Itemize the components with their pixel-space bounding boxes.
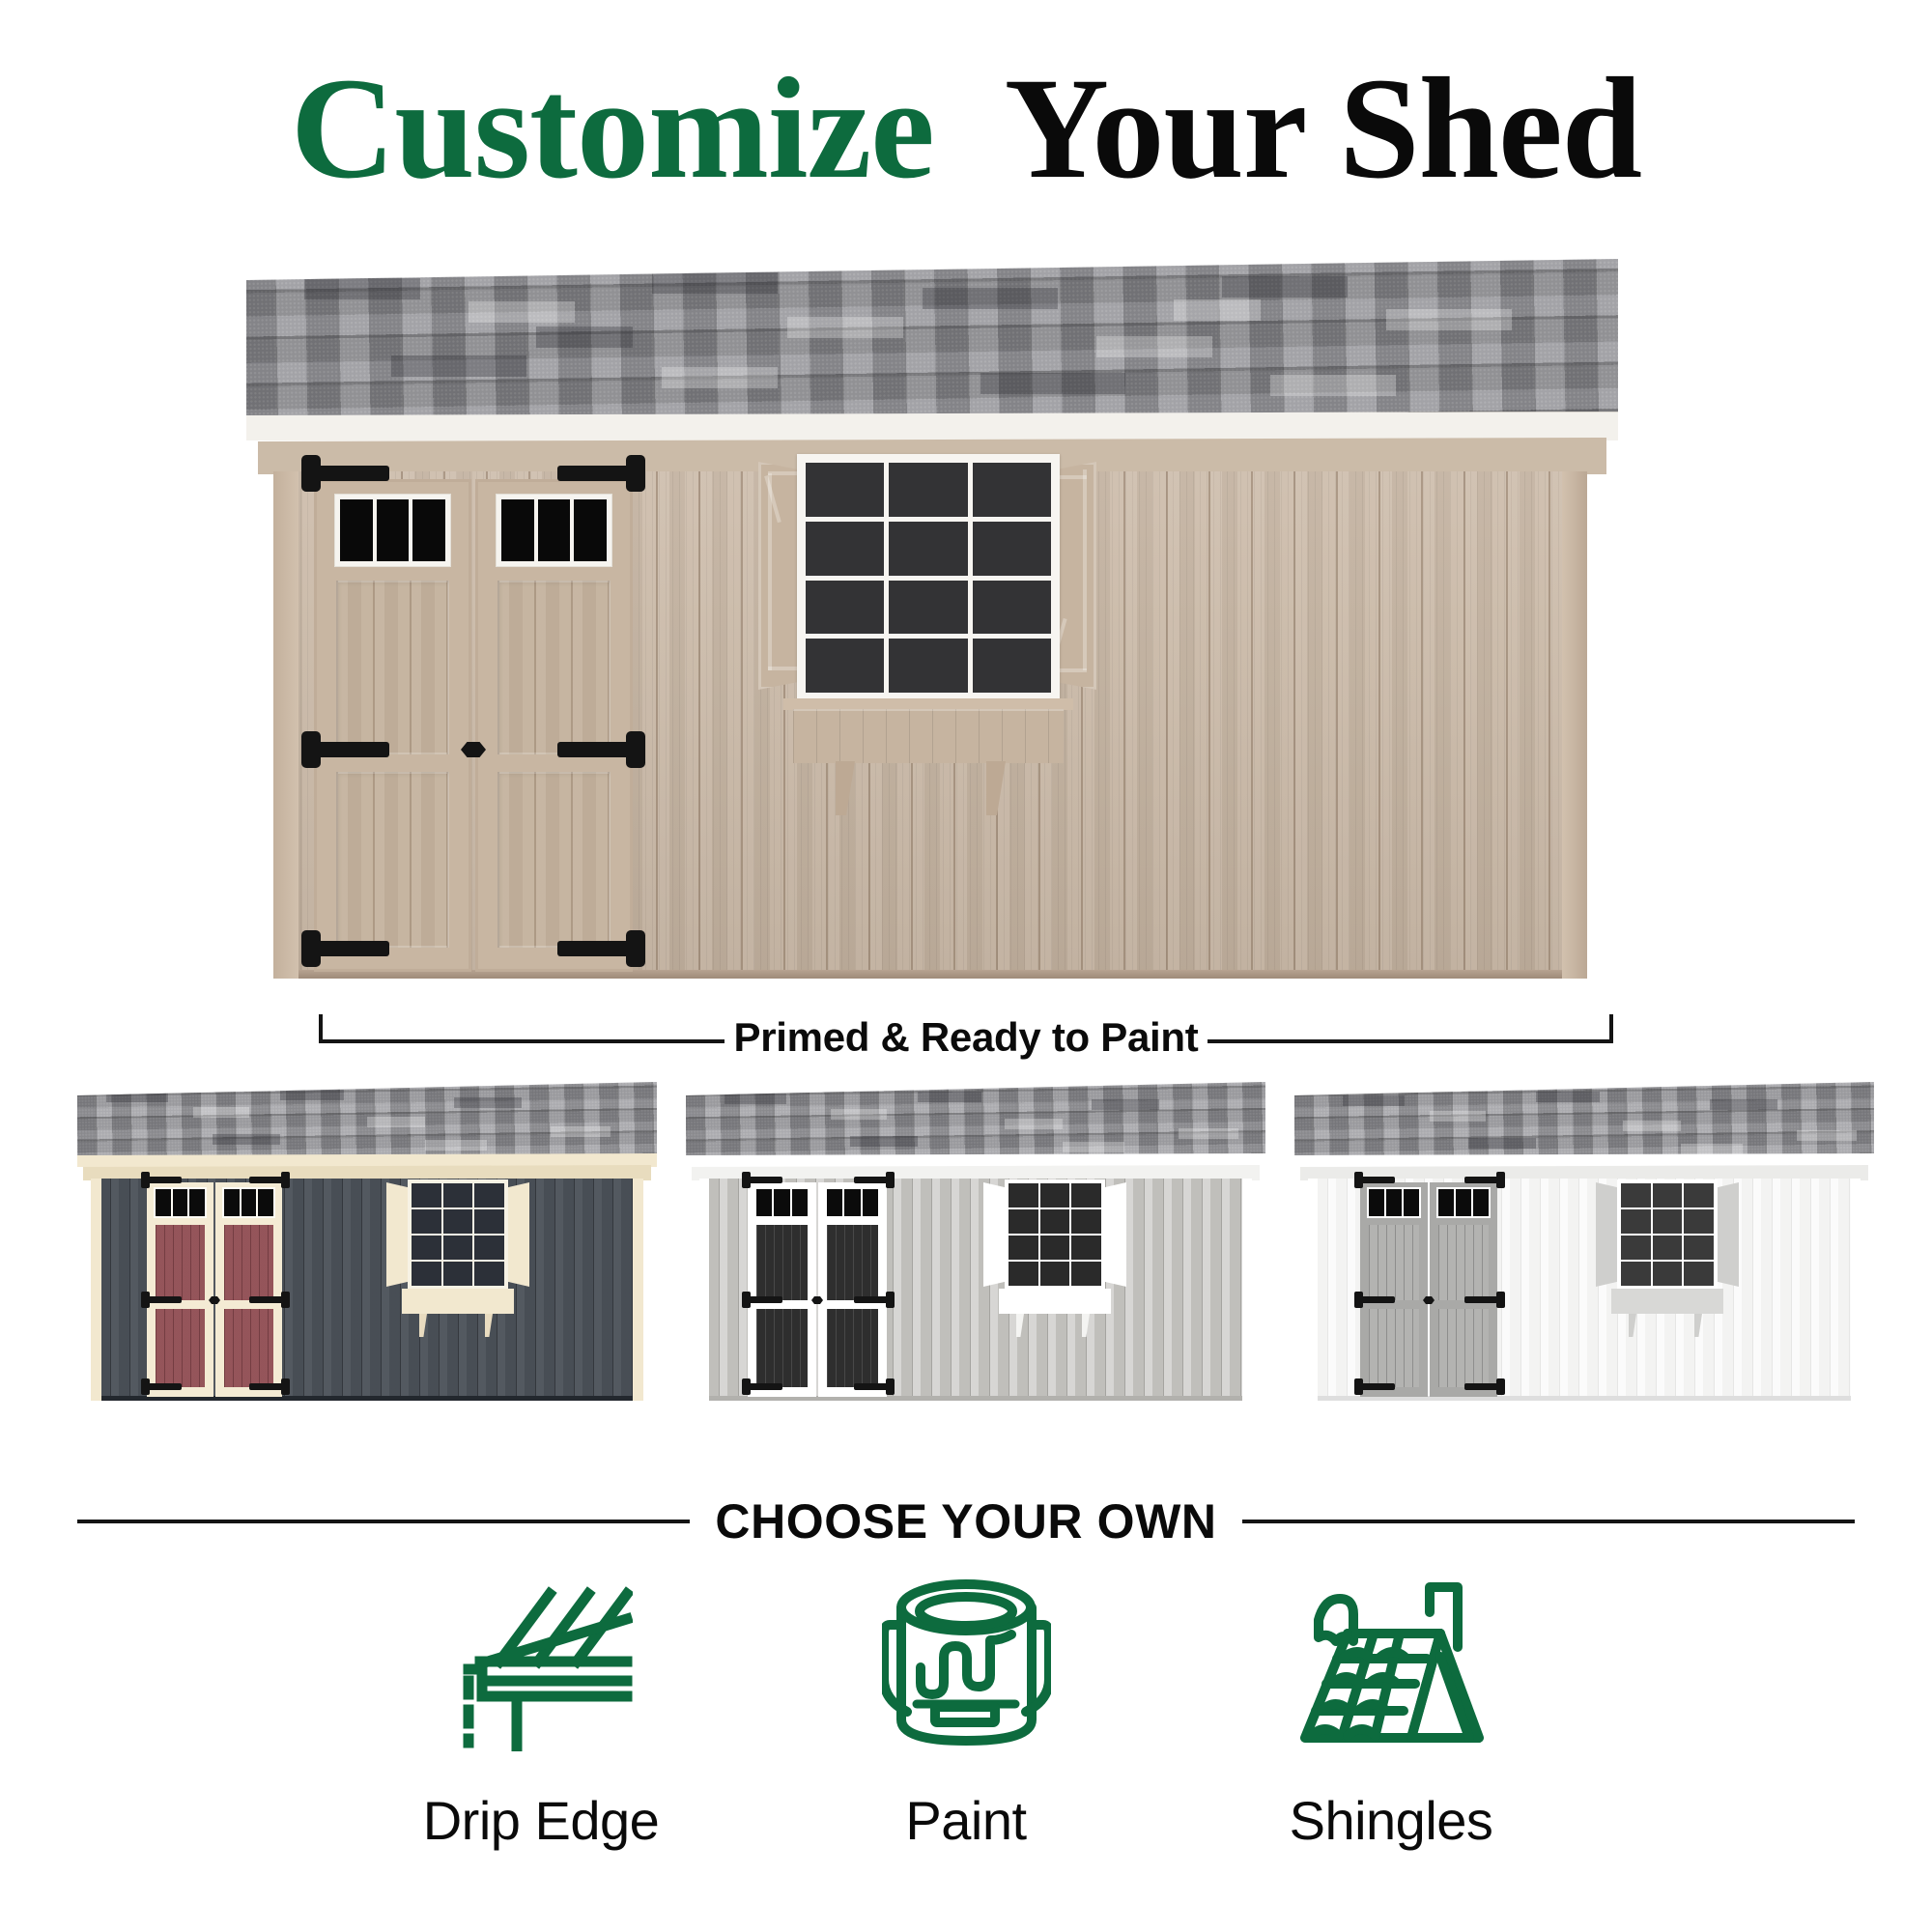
- door-hinge-mid-right: [557, 742, 637, 757]
- divider-heading: CHOOSE YOUR OWN: [715, 1493, 1216, 1549]
- variant-hinge-top-left: [746, 1177, 782, 1183]
- variant-flowerbox: [1611, 1289, 1723, 1314]
- feature-shingles[interactable]: Shingles: [1217, 1565, 1565, 1903]
- variant-window-assembly: [386, 1182, 570, 1366]
- variant-hinge-mid-left: [746, 1296, 782, 1303]
- variant-hinge-mid-left: [145, 1296, 182, 1303]
- variant-fbracket-left: [1016, 1314, 1024, 1337]
- variant-hinge-mid-right: [1464, 1296, 1501, 1303]
- variant-fbracket-right: [1082, 1314, 1090, 1337]
- variant-hinge-bot-right: [249, 1383, 286, 1390]
- variant-hinge-bot-right: [1464, 1383, 1501, 1390]
- door-hinge-top-left: [310, 466, 389, 481]
- shed-fascia-board: [246, 412, 1618, 441]
- variant-fascia: [1294, 1153, 1874, 1167]
- door-hinge-top-right: [557, 466, 637, 481]
- variant-doors[interactable]: [748, 1182, 887, 1397]
- door-hinge-mid-left: [310, 742, 389, 757]
- shingles-roof-icon: [1297, 1565, 1486, 1758]
- feature-row: Drip Edge Paint: [367, 1565, 1565, 1903]
- shed-roof-shingles: [246, 259, 1618, 418]
- flowerbox-bracket-left: [836, 761, 855, 815]
- variant-window: [408, 1179, 508, 1290]
- variant-hinge-top-right: [249, 1177, 286, 1183]
- page-title-highlight: Customize: [291, 48, 934, 209]
- section-divider: CHOOSE YOUR OWN: [77, 1488, 1855, 1555]
- page-title: Customize Your Shed: [0, 56, 1932, 201]
- variant-fbracket-right: [1694, 1314, 1702, 1337]
- variant-door-right[interactable]: [215, 1182, 282, 1397]
- variant-flowerbox: [402, 1289, 514, 1314]
- variant-roof: [1294, 1082, 1874, 1157]
- page-title-rest: Your Shed: [1005, 48, 1641, 209]
- variant-window: [1005, 1179, 1105, 1290]
- hero-caption-bracket: Primed & Ready to Paint: [319, 995, 1613, 1053]
- variant-shed-light-gray[interactable]: [686, 1082, 1265, 1401]
- variant-door-left[interactable]: [147, 1182, 213, 1397]
- variant-shed-white[interactable]: [1294, 1082, 1874, 1401]
- variant-door-right[interactable]: [818, 1182, 887, 1397]
- variant-door-left[interactable]: [1360, 1182, 1428, 1397]
- shed-corner-trim-left: [273, 471, 298, 979]
- variant-doors[interactable]: [147, 1182, 282, 1397]
- variant-roof: [686, 1082, 1265, 1157]
- variant-hinge-top-left: [1358, 1177, 1395, 1183]
- hero-shed: [246, 259, 1618, 979]
- window-panes: [806, 463, 1051, 693]
- feature-label: Paint: [905, 1789, 1026, 1852]
- divider-rule-left: [77, 1520, 690, 1523]
- variant-fbracket-right: [485, 1314, 493, 1337]
- shed-corner-trim-right: [1562, 471, 1587, 979]
- variant-flowerbox: [999, 1289, 1111, 1314]
- variant-hinge-bot-left: [1358, 1383, 1395, 1390]
- shed-window: [797, 454, 1060, 701]
- shed-door-left[interactable]: [314, 479, 471, 972]
- hero-caption-text: Primed & Ready to Paint: [319, 1014, 1613, 1061]
- variant-doors[interactable]: [1360, 1182, 1497, 1397]
- variant-window-assembly: [1596, 1182, 1779, 1366]
- shed-double-doors: [314, 479, 633, 972]
- flowerbox: [793, 709, 1064, 763]
- variant-hinge-bot-left: [145, 1383, 182, 1390]
- variant-fascia: [77, 1153, 657, 1167]
- door-hinge-bottom-left: [310, 941, 389, 956]
- door-window-left: [334, 494, 451, 567]
- door-panel-lower-right: [497, 772, 611, 948]
- variant-shed-charcoal[interactable]: [77, 1082, 657, 1401]
- variant-hinge-bot-left: [746, 1383, 782, 1390]
- door-window-right: [496, 494, 612, 567]
- divider-rule-right: [1242, 1520, 1855, 1523]
- variant-fascia: [686, 1153, 1265, 1167]
- paint-bucket-icon: [882, 1565, 1051, 1758]
- variant-hinge-top-left: [145, 1177, 182, 1183]
- door-panel-upper-right: [497, 581, 611, 754]
- variant-fbracket-left: [1629, 1314, 1636, 1337]
- door-hinge-bottom-right: [557, 941, 637, 956]
- door-panel-upper-left: [336, 581, 449, 754]
- drip-edge-icon: [449, 1565, 633, 1758]
- variant-hinge-bot-right: [854, 1383, 891, 1390]
- feature-label: Drip Edge: [423, 1789, 660, 1852]
- feature-paint[interactable]: Paint: [792, 1565, 1140, 1903]
- variant-hinge-mid-left: [1358, 1296, 1395, 1303]
- variant-window-assembly: [983, 1182, 1167, 1366]
- variant-hinge-top-right: [854, 1177, 891, 1183]
- shed-door-right[interactable]: [475, 479, 633, 972]
- variant-door-left[interactable]: [748, 1182, 816, 1397]
- door-panel-lower-left: [336, 772, 449, 948]
- variant-door-right[interactable]: [1430, 1182, 1497, 1397]
- feature-drip-edge[interactable]: Drip Edge: [367, 1565, 715, 1903]
- variant-hinge-mid-right: [854, 1296, 891, 1303]
- variant-hinge-top-right: [1464, 1177, 1501, 1183]
- feature-label: Shingles: [1290, 1789, 1493, 1852]
- variant-fbracket-left: [419, 1314, 427, 1337]
- variant-hinge-mid-right: [249, 1296, 286, 1303]
- shed-window-assembly: [758, 462, 1174, 867]
- poster-canvas: Customize Your Shed: [0, 0, 1932, 1932]
- variant-window: [1617, 1179, 1718, 1290]
- variant-roof: [77, 1082, 657, 1157]
- flowerbox-bracket-right: [986, 761, 1006, 815]
